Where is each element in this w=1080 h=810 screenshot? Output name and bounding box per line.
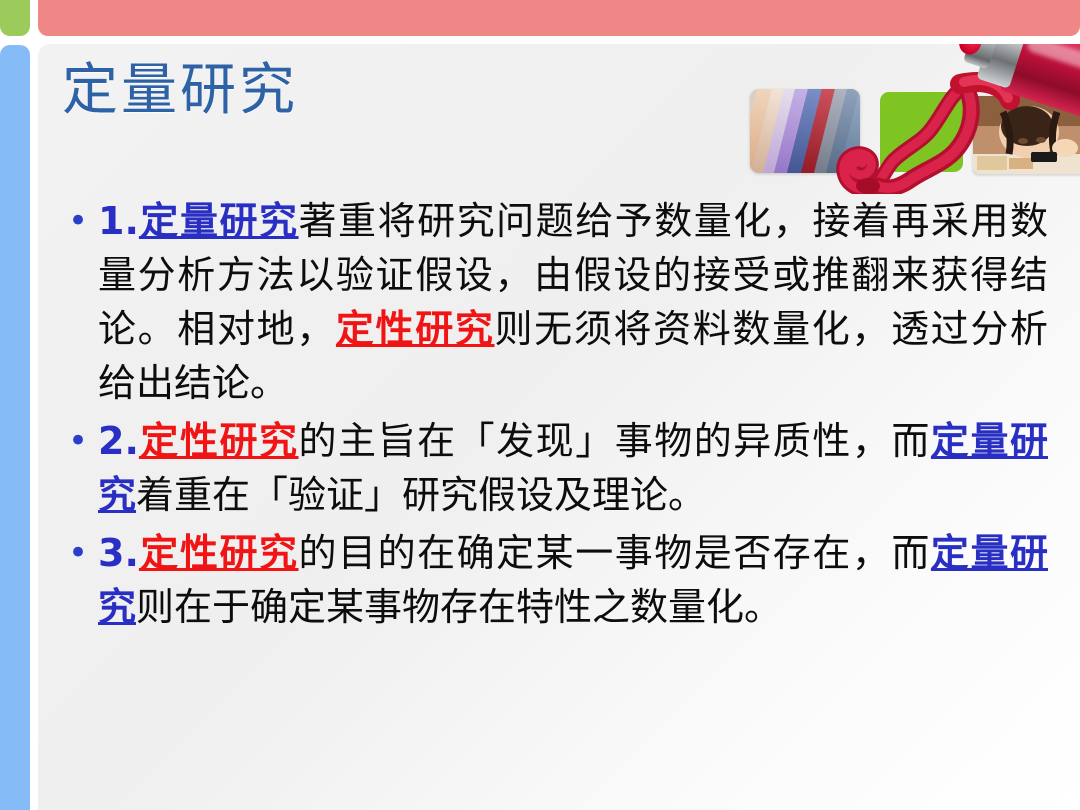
bullet-segment-term: 定量研究	[139, 199, 299, 243]
bullet-segment-term: 定性研究	[336, 307, 495, 351]
child-photo-svg	[973, 96, 1080, 174]
bullet-segment: 1.	[98, 199, 139, 243]
bullet-segment: 3.	[98, 531, 139, 575]
bullet-dot-icon: •	[58, 194, 98, 248]
colored-pencils-photo-icon	[750, 89, 860, 173]
left-blue-sidebar-icon	[0, 45, 30, 810]
slide-content-panel: 定量研究 • 1.定量研究著重将研究问题给予数量化，接着再采用数量分析方法以验证…	[38, 44, 1080, 810]
list-item: • 3.定性研究的目的在确定某一事物是否存在，而定量研究则在于确定某事物存在特性…	[58, 526, 1048, 634]
green-square-accent-icon	[880, 92, 963, 172]
paint-tube-icon	[946, 44, 1080, 152]
bullet-segment: 的主旨在「发现」事物的异质性，而	[299, 419, 931, 463]
bullet-segment-term: 定性研究	[139, 531, 299, 575]
bullet-segment: 的目的在确定某一事物是否存在，而	[299, 531, 931, 575]
bullet-dot-icon: •	[58, 414, 98, 468]
bullet-segment: 2.	[98, 419, 139, 463]
bullet-text-3: 3.定性研究的目的在确定某一事物是否存在，而定量研究则在于确定某事物存在特性之数…	[98, 526, 1048, 634]
bullet-text-2: 2.定性研究的主旨在「发现」事物的异质性，而定量研究着重在「验证」研究假设及理论…	[98, 414, 1048, 522]
child-studying-photo-icon	[973, 96, 1080, 174]
paint-splash-icon	[718, 44, 1080, 194]
bullet-segment-term: 定性研究	[139, 419, 299, 463]
bullet-text-1: 1.定量研究著重将研究问题给予数量化，接着再采用数量分析方法以验证假设，由假设的…	[98, 194, 1048, 410]
bullet-segment: 着重在「验证」研究假设及理论。	[136, 473, 706, 517]
corner-green-block-icon	[0, 0, 30, 36]
page-title: 定量研究	[62, 58, 298, 124]
list-item: • 2.定性研究的主旨在「发现」事物的异质性，而定量研究着重在「验证」研究假设及…	[58, 414, 1048, 522]
slide-canvas: 定量研究 • 1.定量研究著重将研究问题给予数量化，接着再采用数量分析方法以验证…	[0, 0, 1080, 810]
bullet-segment: 则在于确定某事物存在特性之数量化。	[136, 585, 782, 629]
bullet-dot-icon: •	[58, 526, 98, 580]
bullet-list: • 1.定量研究著重将研究问题给予数量化，接着再采用数量分析方法以验证假设，由假…	[58, 194, 1048, 638]
top-pink-bar-icon	[38, 0, 1080, 36]
list-item: • 1.定量研究著重将研究问题给予数量化，接着再采用数量分析方法以验证假设，由假…	[58, 194, 1048, 410]
header-artwork	[718, 44, 1080, 194]
